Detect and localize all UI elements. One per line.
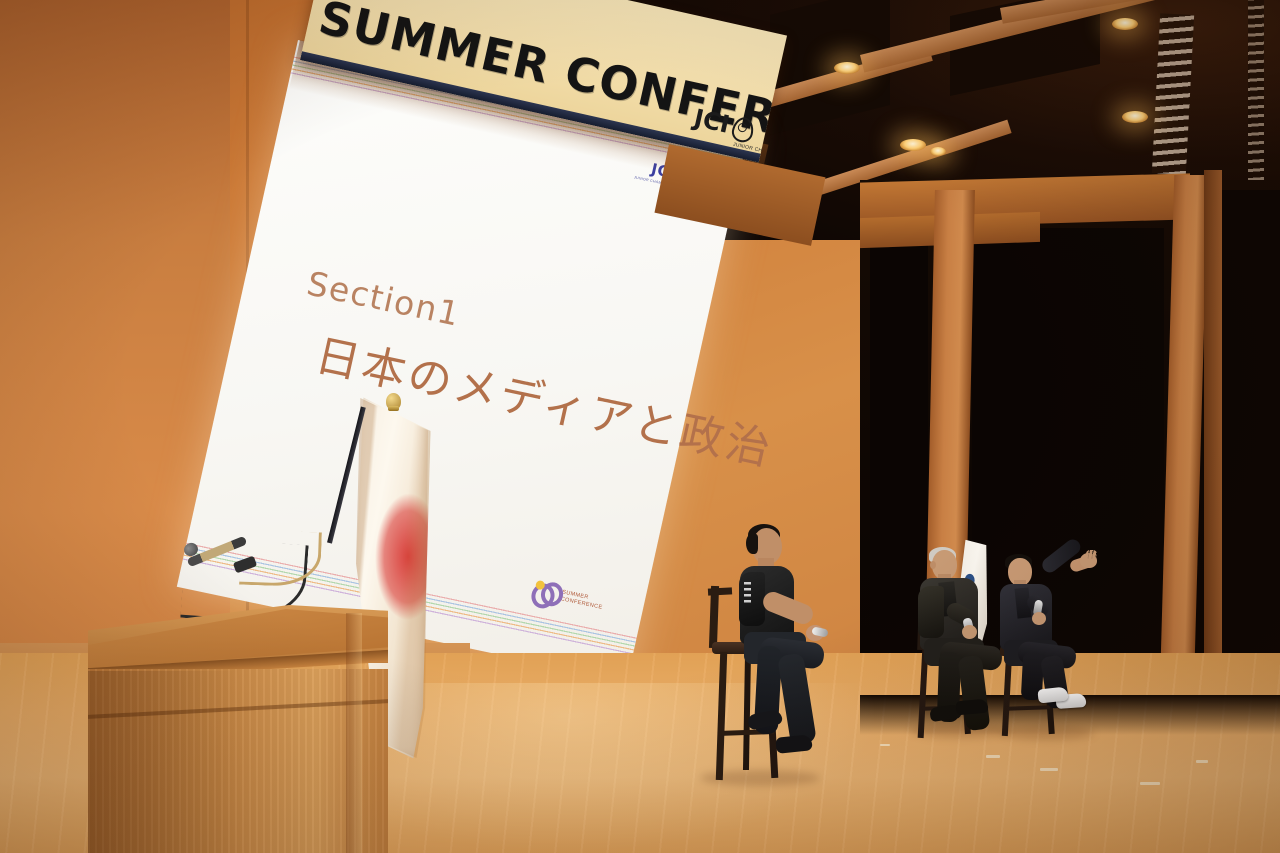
floor-reflection	[986, 755, 1000, 758]
stage-spotlight-icon	[1122, 111, 1148, 123]
ceiling-grille	[1248, 0, 1264, 180]
stage-spotlight-icon	[1112, 18, 1138, 30]
wall-pillar	[1204, 170, 1222, 690]
lectern-edge	[346, 613, 362, 853]
lectern	[88, 533, 388, 853]
stage-spotlight-icon	[930, 147, 946, 156]
hand	[962, 625, 977, 639]
ear	[930, 561, 936, 569]
person-shadow	[910, 724, 1010, 738]
wall-recess	[1222, 190, 1280, 690]
fingers	[1086, 550, 1097, 559]
stage-spotlight-icon	[834, 62, 860, 74]
shoe	[955, 699, 988, 716]
hair	[746, 534, 758, 554]
sleeve	[918, 586, 944, 638]
sleeve-print	[744, 582, 751, 606]
floor-reflection	[880, 744, 890, 746]
person-shadow	[998, 726, 1094, 740]
summer-conference-wordmark: SUMMER CONFERENCE	[560, 589, 605, 612]
infinity-loop-icon	[530, 579, 561, 608]
flag-finial-icon	[386, 393, 401, 410]
stage-photo-scene: JCI JUNIOR CHAMBER INTERNATIONAL Section…	[0, 0, 1280, 853]
floor-reflection	[1196, 760, 1208, 763]
floor-reflection	[1040, 768, 1058, 771]
lectern-shadow	[88, 671, 238, 853]
summer-conference-logo: SUMMER CONFERENCE	[530, 579, 605, 617]
sleeve	[739, 572, 765, 626]
stage-spotlight-icon	[900, 139, 926, 151]
hand	[1032, 612, 1046, 625]
floor-reflection	[1140, 782, 1160, 785]
